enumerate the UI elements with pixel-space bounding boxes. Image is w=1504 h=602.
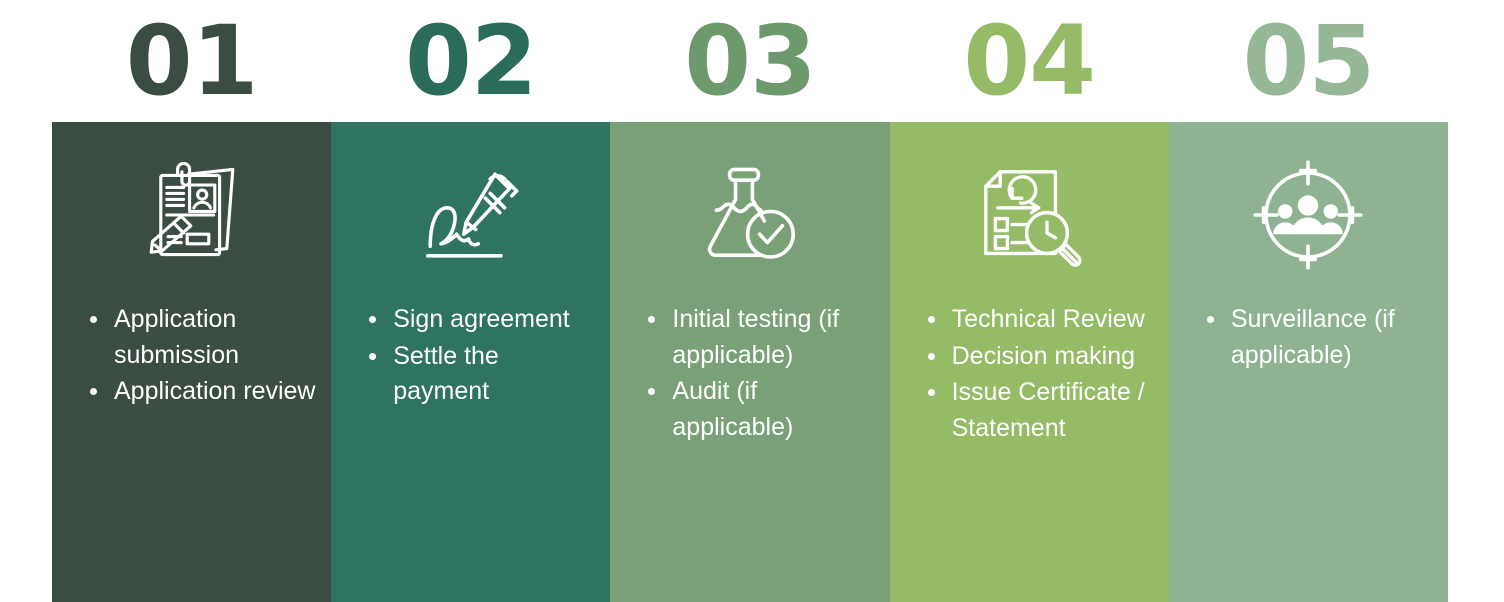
signature-pen-icon <box>406 150 536 280</box>
list-item: Application submission <box>84 302 317 373</box>
application-form-icon <box>127 150 257 280</box>
list-item: Settle the payment <box>363 339 596 410</box>
step-05: 05 Surveil <box>1169 0 1448 602</box>
list-item: Issue Certificate / Statement <box>922 375 1155 446</box>
step-02: 02 Sign agreement <box>331 0 610 602</box>
step-02-number: 02 <box>405 13 537 109</box>
list-item: Audit (if applicable) <box>642 374 875 445</box>
step-01-number-header: 01 <box>52 0 331 122</box>
step-05-number-header: 05 <box>1169 0 1448 122</box>
step-02-number-header: 02 <box>331 0 610 122</box>
step-03-panel: Initial testing (if applicable) Audit (i… <box>610 122 889 602</box>
list-item: Surveillance (if applicable) <box>1201 302 1434 373</box>
step-05-list: Surveillance (if applicable) <box>1169 302 1448 374</box>
target-people-surveillance-icon <box>1243 150 1373 280</box>
list-item: Sign agreement <box>363 302 596 338</box>
steps-row: 01 <box>52 0 1448 602</box>
step-04-number: 04 <box>963 13 1095 109</box>
list-item: Technical Review <box>922 302 1155 338</box>
step-03: 03 Initial testing (if applicable) Audi <box>610 0 889 602</box>
step-02-panel: Sign agreement Settle the payment <box>331 122 610 602</box>
step-03-number-header: 03 <box>610 0 889 122</box>
step-01-panel: Application submission Application revie… <box>52 122 331 602</box>
step-01-list: Application submission Application revie… <box>52 302 331 411</box>
step-05-panel: Surveillance (if applicable) <box>1169 122 1448 602</box>
list-item: Decision making <box>922 339 1155 375</box>
process-steps-infographic: 01 <box>0 0 1504 602</box>
step-05-number: 05 <box>1243 13 1375 109</box>
step-04-number-header: 04 <box>890 0 1169 122</box>
step-01-number: 01 <box>126 13 258 109</box>
lab-flask-check-icon <box>685 150 815 280</box>
list-item: Application review <box>84 374 317 410</box>
document-review-magnifier-clock-icon <box>964 150 1094 280</box>
list-item: Initial testing (if applicable) <box>642 302 875 373</box>
step-02-list: Sign agreement Settle the payment <box>331 302 610 411</box>
step-03-list: Initial testing (if applicable) Audit (i… <box>610 302 889 446</box>
step-04-list: Technical Review Decision making Issue C… <box>890 302 1169 447</box>
step-04: 04 <box>890 0 1169 602</box>
step-04-panel: Technical Review Decision making Issue C… <box>890 122 1169 602</box>
step-03-number: 03 <box>684 13 816 109</box>
step-01: 01 <box>52 0 331 602</box>
